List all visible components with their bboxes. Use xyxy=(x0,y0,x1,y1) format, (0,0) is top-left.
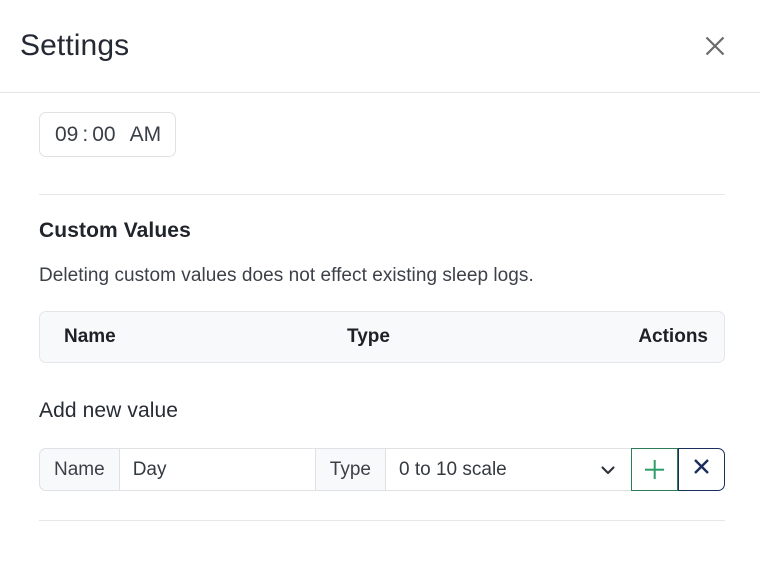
add-value-button[interactable] xyxy=(631,448,678,491)
time-minute[interactable]: 00 xyxy=(91,123,116,147)
time-meridiem[interactable]: AM xyxy=(117,123,162,147)
type-field-label: Type xyxy=(315,448,385,491)
close-icon xyxy=(702,33,728,59)
custom-values-description: Deleting custom values does not effect e… xyxy=(39,243,725,287)
column-header-name: Name xyxy=(64,326,347,348)
column-header-type: Type xyxy=(347,326,638,348)
type-select-value: 0 to 10 scale xyxy=(399,459,507,481)
time-hour[interactable]: 09 xyxy=(54,123,79,147)
column-header-actions: Actions xyxy=(638,326,708,348)
chevron-down-icon xyxy=(598,460,618,480)
add-new-value-heading: Add new value xyxy=(39,363,725,423)
table-header-row: Name Type Actions xyxy=(40,312,724,362)
close-modal-button[interactable] xyxy=(698,29,732,63)
name-input[interactable]: Day xyxy=(119,448,315,491)
modal-body: 09 : 00 AM Custom Values Deleting custom… xyxy=(0,93,760,584)
custom-values-table: Name Type Actions xyxy=(39,311,725,363)
time-separator: : xyxy=(79,123,91,147)
type-select[interactable]: 0 to 10 scale xyxy=(385,448,631,491)
time-input[interactable]: 09 : 00 AM xyxy=(39,112,176,157)
remove-value-button[interactable] xyxy=(678,448,725,491)
settings-modal: Settings 09 : 00 AM Custom Values xyxy=(0,0,760,584)
section-divider-bottom xyxy=(39,520,725,521)
modal-header: Settings xyxy=(0,0,760,93)
custom-values-heading: Custom Values xyxy=(39,195,725,243)
close-icon xyxy=(691,456,712,483)
page-title: Settings xyxy=(20,31,129,61)
add-new-value-form: Name Day Type 0 to 10 scale xyxy=(39,448,725,491)
plus-icon xyxy=(645,460,664,479)
name-field-label: Name xyxy=(39,448,119,491)
time-setting-row: 09 : 00 AM xyxy=(39,93,725,157)
